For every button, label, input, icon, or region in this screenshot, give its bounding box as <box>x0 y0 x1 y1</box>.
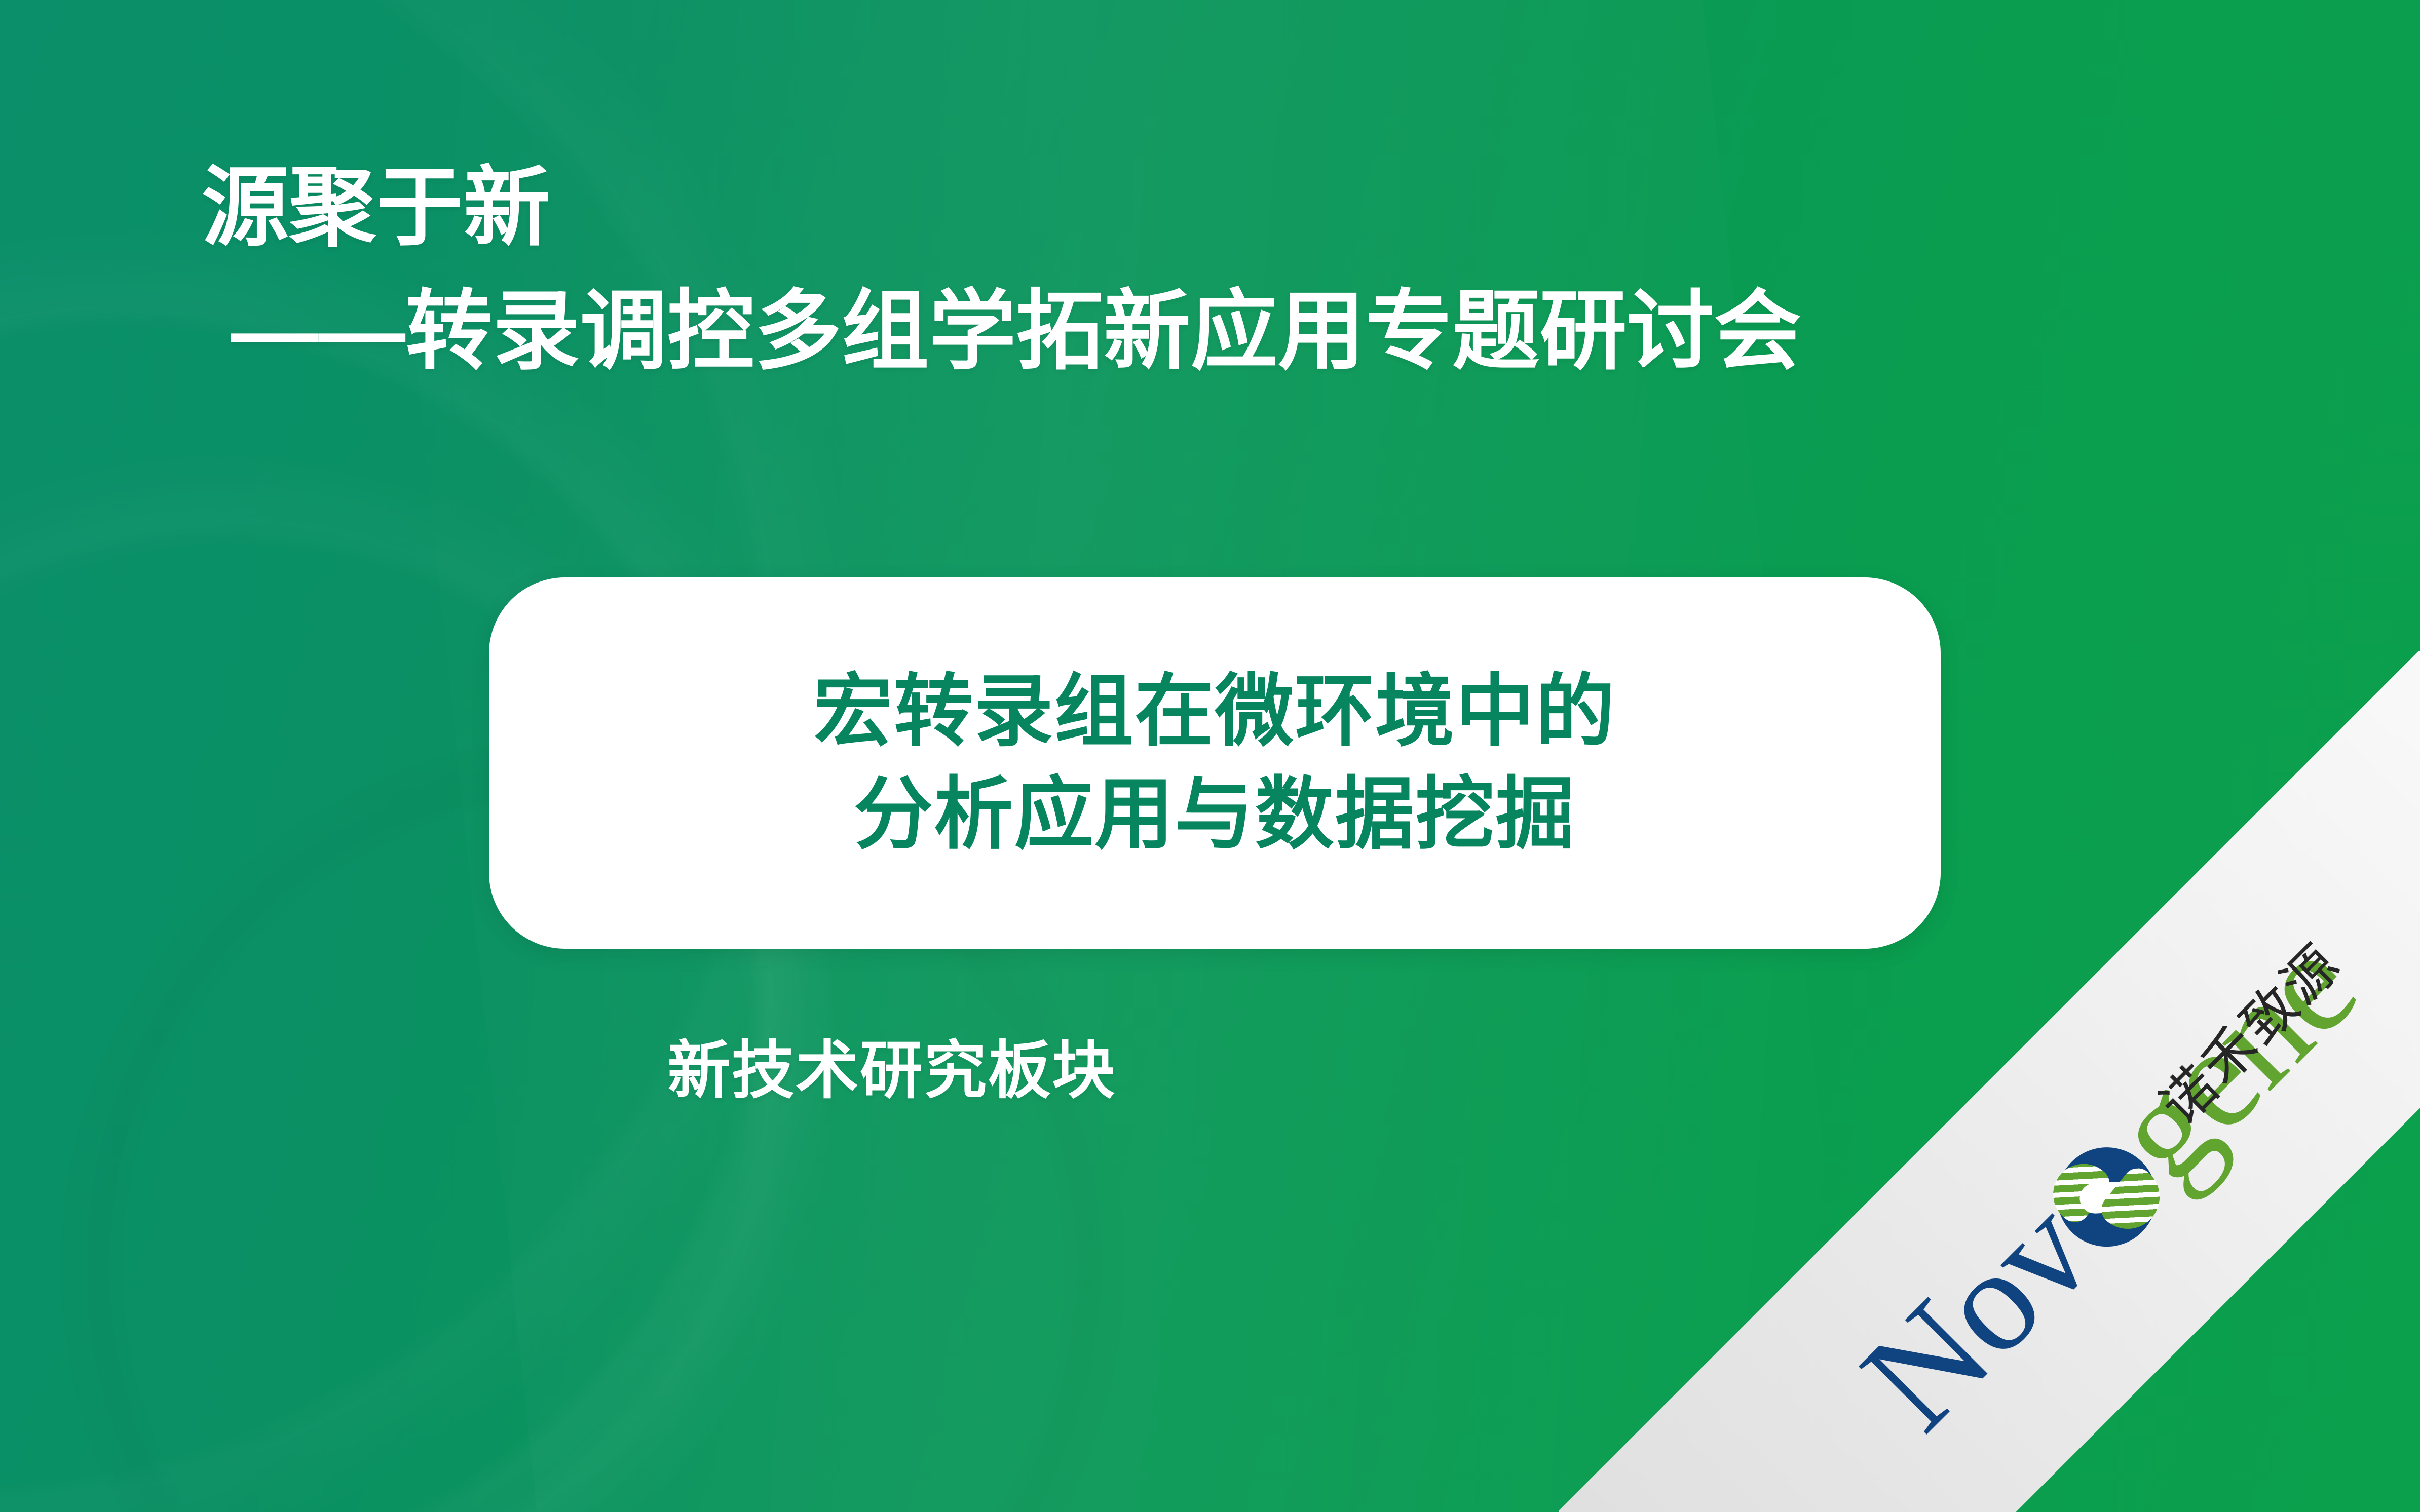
event-poster: 源聚于新 ——转录调控多组学拓新应用专题研讨会 宏转录组在微环境中的 分析应用与… <box>0 0 2420 1512</box>
department-subtitle: 新技术研究板块 <box>0 1019 1784 1110</box>
topic-title-line-1: 宏转录组在微环境中的 <box>814 661 1616 763</box>
topic-title-line-2: 分析应用与数据挖掘 <box>854 763 1576 866</box>
event-heading: 源聚于新 ——转录调控多组学拓新应用专题研讨会 <box>202 152 2178 387</box>
heading-line-2: ——转录调控多组学拓新应用专题研讨会 <box>202 276 2178 387</box>
novogene-logo: Novgene 诺禾致源 <box>1839 914 2377 1452</box>
corner-ribbon-area: Novgene 诺禾致源 <box>1559 651 2420 1512</box>
heading-line-1: 源聚于新 <box>202 152 2178 263</box>
logo-wordmark: Novgene 诺禾致源 <box>1839 914 2377 1452</box>
corner-ribbon: Novgene 诺禾致源 <box>1559 651 2420 1512</box>
